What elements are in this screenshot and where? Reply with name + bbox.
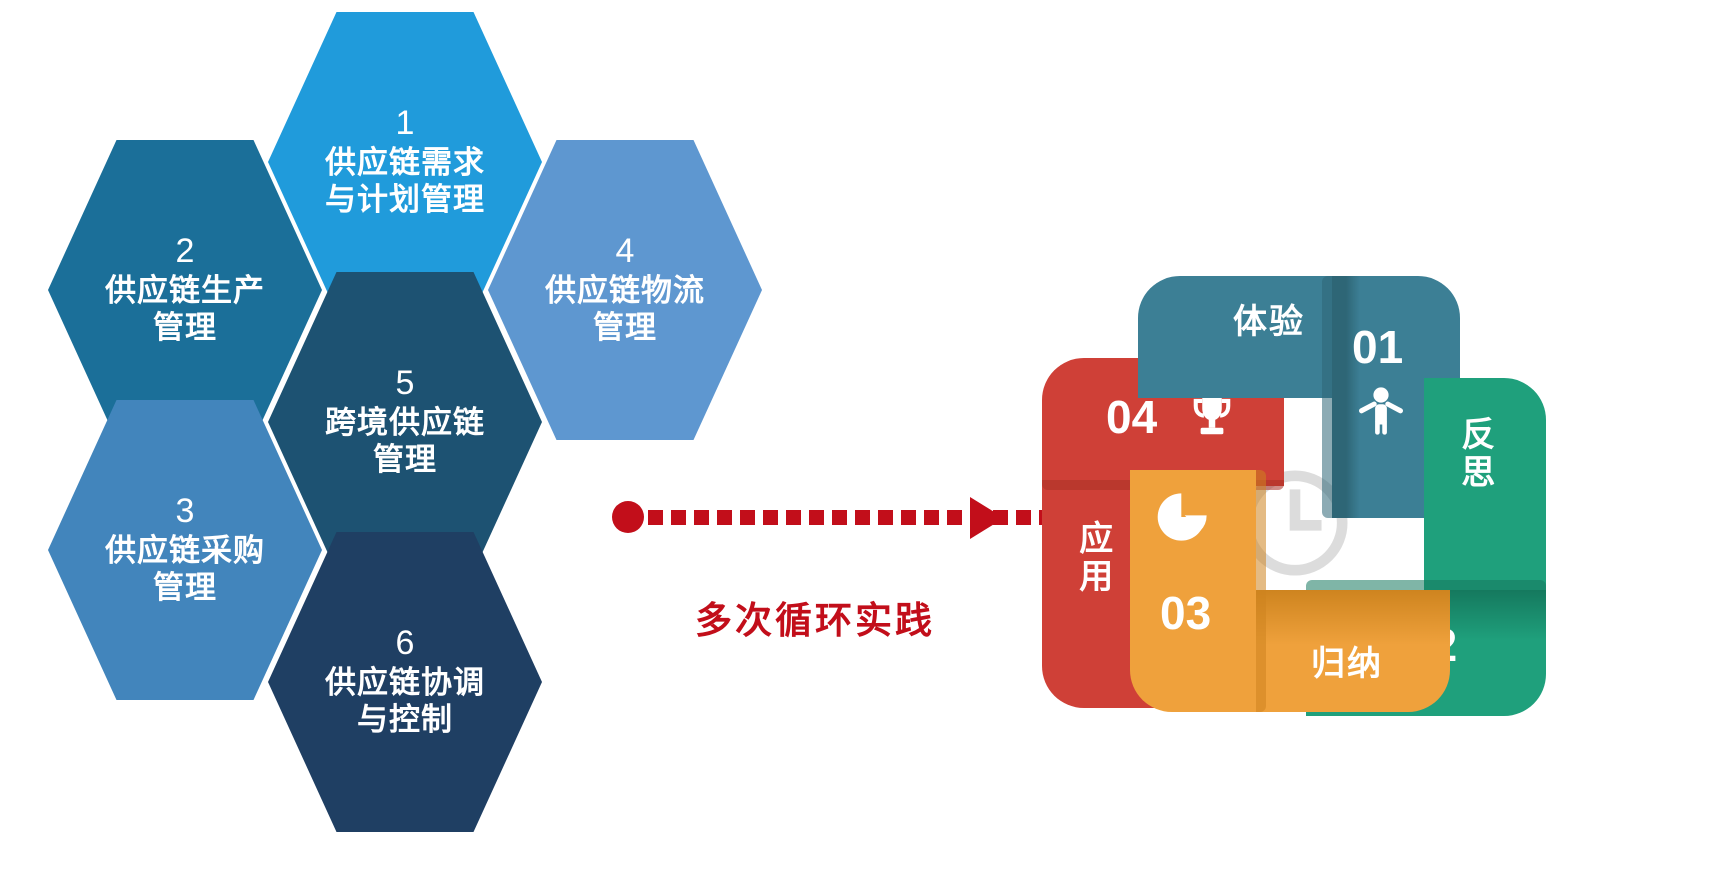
arrow-dash [648, 510, 663, 525]
hexagon-2-number: 2 [176, 234, 195, 270]
arrow-dash [855, 510, 870, 525]
arrow-dash [901, 510, 916, 525]
hexagon-cluster: 2 供应链生产 管理 3 供应链采购 管理 1 供应链需求 与计划管理 5 跨境… [0, 0, 800, 780]
arrow-dash [832, 510, 847, 525]
hexagon-5-number: 5 [396, 366, 415, 402]
arrow-dash [671, 510, 686, 525]
arm-03-shadow [1256, 470, 1266, 712]
hexagon-4-number: 4 [616, 234, 635, 270]
hexagon-2-label: 供应链生产 管理 [105, 272, 265, 346]
cycle-caption-label: 多次循环实践 [695, 590, 935, 644]
hexagon-3-label: 供应链采购 管理 [105, 532, 265, 606]
arrow-start-dot [612, 501, 644, 533]
hexagon-3-number: 3 [176, 494, 195, 530]
hexagon-6-label: 供应链协调 与控制 [325, 664, 485, 738]
arrow-dash [809, 510, 824, 525]
hexagon-5-label: 跨境供应链 管理 [325, 404, 485, 478]
arrow-dash [786, 510, 801, 525]
arrow-dash [1016, 510, 1031, 525]
hexagon-1-number: 1 [396, 106, 415, 142]
arrow-dash [924, 510, 939, 525]
arrow-dash [740, 510, 755, 525]
arrow-dash [878, 510, 893, 525]
arrow-dash [717, 510, 732, 525]
hexagon-6-number: 6 [396, 626, 415, 662]
arm-03-word: 归纳 [1272, 646, 1422, 683]
diagram-canvas: 2 供应链生产 管理 3 供应链采购 管理 1 供应链需求 与计划管理 5 跨境… [0, 0, 1734, 888]
cycle-arrow-group [612, 495, 1012, 555]
hexagon-1-label: 供应链需求 与计划管理 [325, 144, 485, 218]
arm-03-number: 03 [1160, 590, 1211, 636]
arrow-head-icon [970, 497, 1004, 539]
arrow-dash [694, 510, 709, 525]
pie-chart-icon [1156, 490, 1210, 544]
arrow-dash [763, 510, 778, 525]
hexagon-4-label: 供应链物流 管理 [545, 272, 705, 346]
learning-cycle-pinwheel: 04 应用 体验 01 [1034, 268, 1554, 768]
pinwheel-arm-03[interactable]: 03 归纳 [1034, 268, 1554, 768]
arrow-dash [947, 510, 962, 525]
